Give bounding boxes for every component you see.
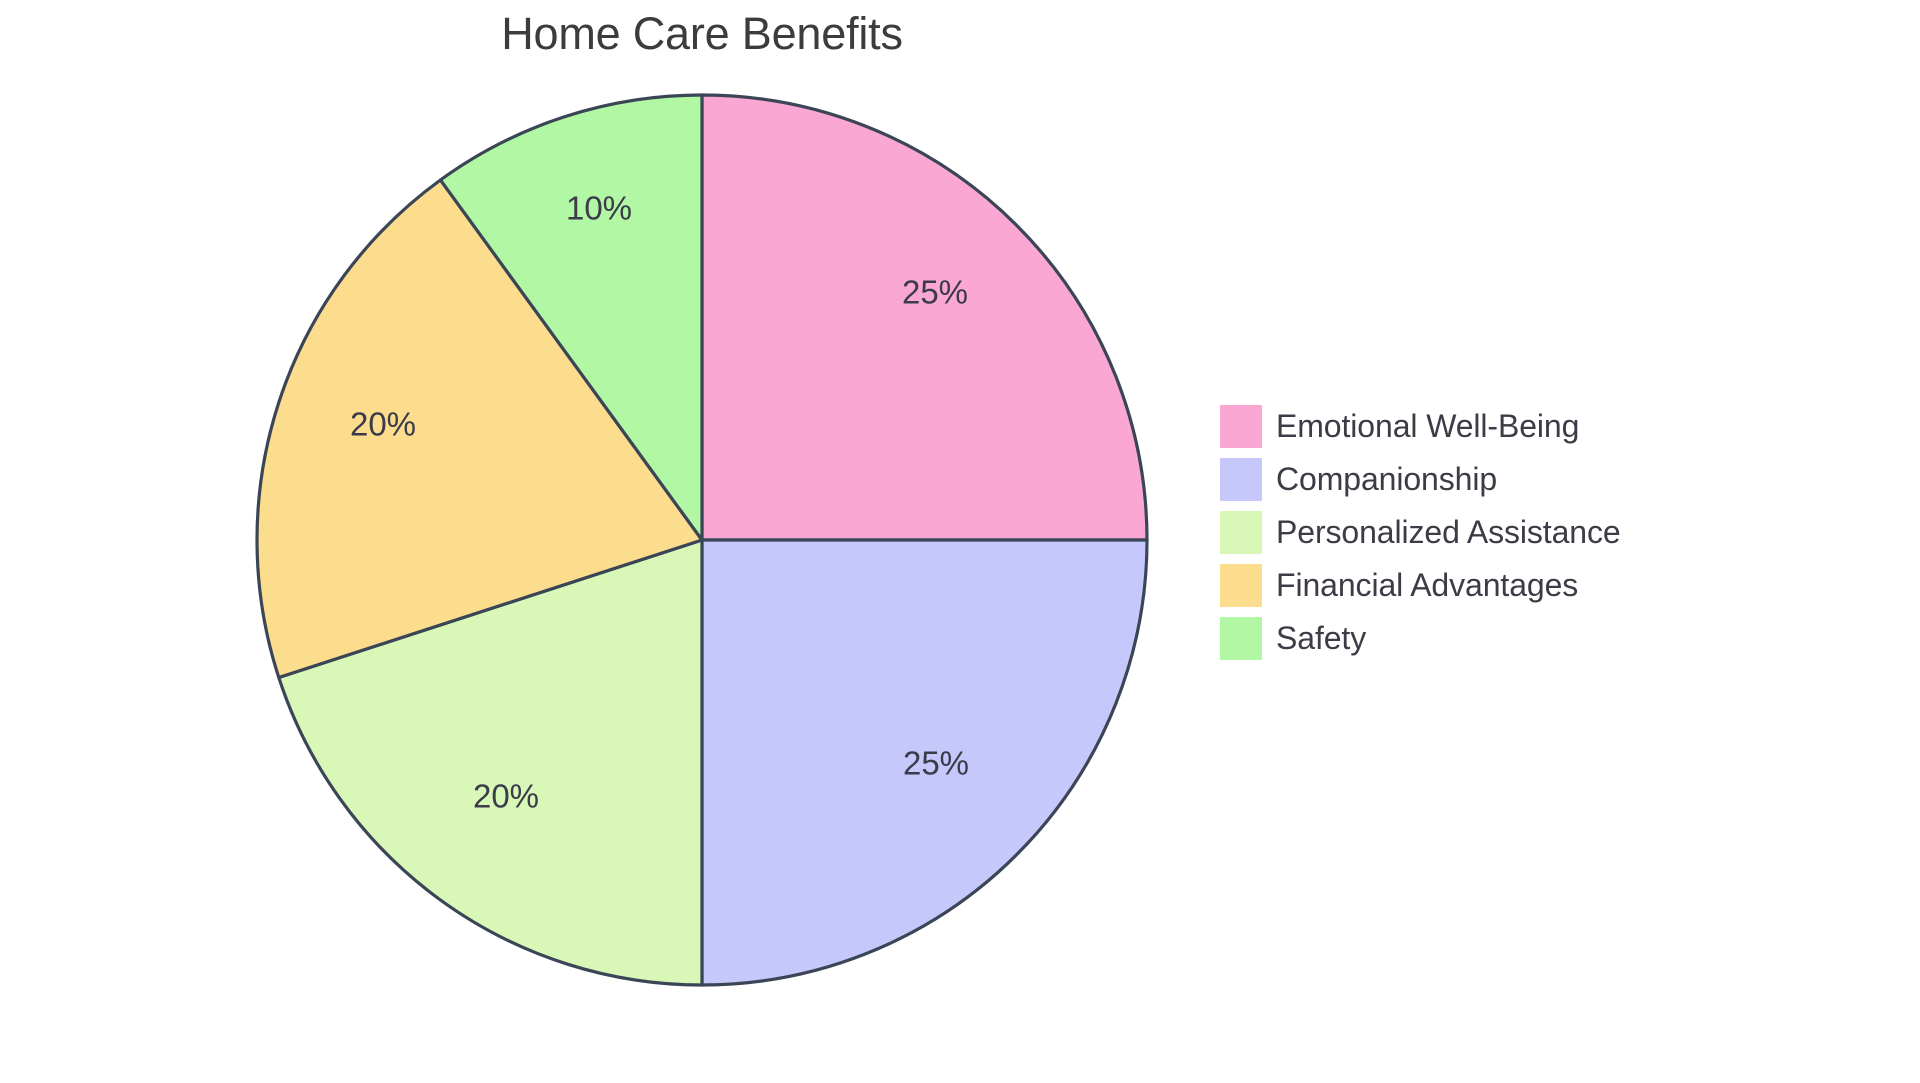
legend-color-swatch — [1220, 564, 1262, 607]
legend-item-label: Safety — [1276, 617, 1366, 660]
pie-chart-figure: Home Care Benefits 25%25%20%20%10% Emoti… — [0, 0, 1920, 1083]
pie-slice-percentage-label: 10% — [566, 190, 632, 227]
pie-chart-canvas: 25%25%20%20%10% — [0, 0, 1920, 1083]
legend-item[interactable]: Companionship — [1220, 458, 1621, 501]
legend-item[interactable]: Safety — [1220, 617, 1621, 660]
legend-color-swatch — [1220, 405, 1262, 448]
legend-item[interactable]: Financial Advantages — [1220, 564, 1621, 607]
pie-slice-percentage-label: 25% — [902, 274, 968, 311]
legend-item-label: Financial Advantages — [1276, 564, 1578, 607]
pie-slice-group — [257, 95, 1147, 985]
legend-item-label: Emotional Well-Being — [1276, 405, 1579, 448]
pie-slice[interactable] — [702, 95, 1147, 540]
legend-item-label: Personalized Assistance — [1276, 511, 1621, 554]
legend-color-swatch — [1220, 511, 1262, 554]
legend-item-label: Companionship — [1276, 458, 1497, 501]
legend-item[interactable]: Emotional Well-Being — [1220, 405, 1621, 448]
pie-slice-percentage-label: 25% — [903, 745, 969, 782]
pie-slice-percentage-label: 20% — [350, 406, 416, 443]
legend-color-swatch — [1220, 458, 1262, 501]
chart-legend: Emotional Well-BeingCompanionshipPersona… — [1220, 405, 1621, 660]
legend-color-swatch — [1220, 617, 1262, 660]
legend-item[interactable]: Personalized Assistance — [1220, 511, 1621, 554]
pie-slice-percentage-label: 20% — [473, 778, 539, 815]
